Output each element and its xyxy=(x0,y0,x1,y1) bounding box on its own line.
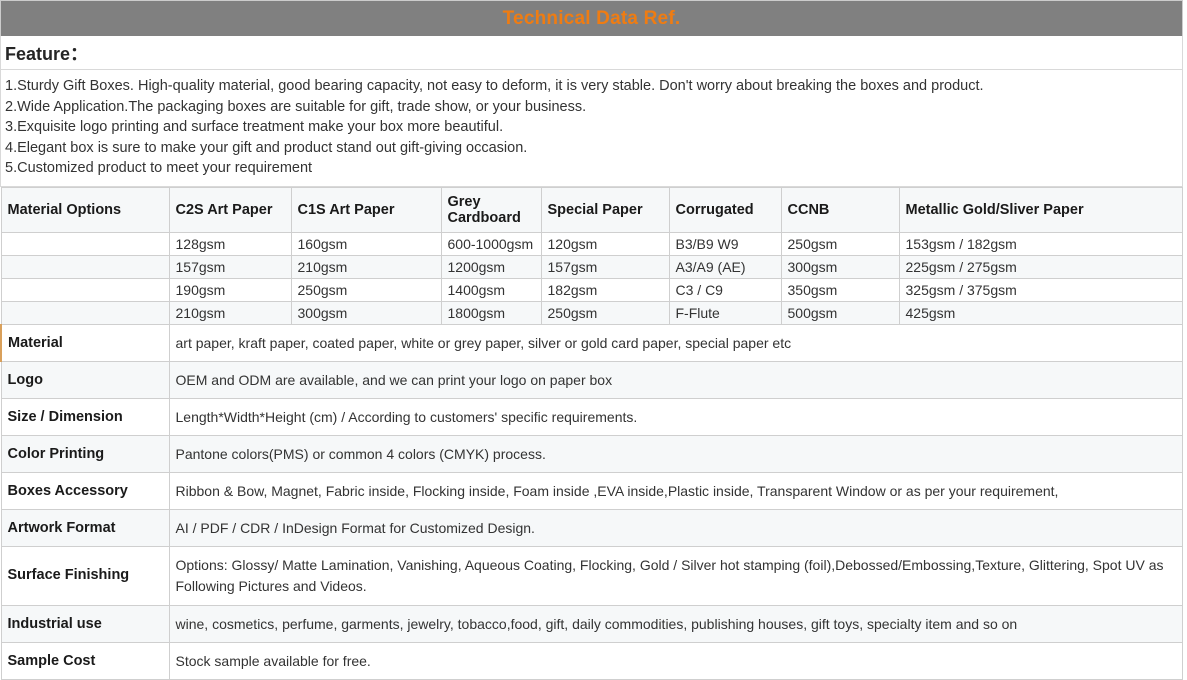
feature-line: 5.Customized product to meet your requir… xyxy=(5,158,1178,179)
cell xyxy=(1,278,169,301)
cell: 182gsm xyxy=(541,278,669,301)
cell: 160gsm xyxy=(291,232,441,255)
cell: 210gsm xyxy=(291,255,441,278)
cell: 157gsm xyxy=(541,255,669,278)
detail-value: Stock sample available for free. xyxy=(169,642,1183,679)
cell: 600-1000gsm xyxy=(441,232,541,255)
cell: 153gsm / 182gsm xyxy=(899,232,1183,255)
detail-row-industrial-use: Industrial use wine, cosmetics, perfume,… xyxy=(1,605,1183,642)
cell: 157gsm xyxy=(169,255,291,278)
cell: 1200gsm xyxy=(441,255,541,278)
feature-heading: Feature： xyxy=(5,40,88,66)
detail-label: Material xyxy=(1,324,169,361)
column-header: C2S Art Paper xyxy=(169,187,291,232)
cell: 250gsm xyxy=(541,301,669,324)
detail-value: Ribbon & Bow, Magnet, Fabric inside, Flo… xyxy=(169,472,1183,509)
cell: 300gsm xyxy=(291,301,441,324)
table-header-row: Material Options C2S Art Paper C1S Art P… xyxy=(1,187,1183,232)
detail-label: Color Printing xyxy=(1,435,169,472)
feature-line: 3.Exquisite logo printing and surface tr… xyxy=(5,117,1178,138)
column-header: Grey Cardboard xyxy=(441,187,541,232)
specification-table: Material Options C2S Art Paper C1S Art P… xyxy=(0,187,1183,680)
cell: 1800gsm xyxy=(441,301,541,324)
detail-label: Artwork Format xyxy=(1,509,169,546)
cell: 325gsm / 375gsm xyxy=(899,278,1183,301)
feature-line: 1.Sturdy Gift Boxes. High-quality materi… xyxy=(5,76,1178,97)
cell: 120gsm xyxy=(541,232,669,255)
detail-row-material: Material art paper, kraft paper, coated … xyxy=(1,324,1183,361)
spec-table-wrapper: Material Options C2S Art Paper C1S Art P… xyxy=(0,187,1183,680)
cell: 425gsm xyxy=(899,301,1183,324)
column-header: Special Paper xyxy=(541,187,669,232)
column-header: Metallic Gold/Sliver Paper xyxy=(899,187,1183,232)
table-row: 210gsm 300gsm 1800gsm 250gsm F-Flute 500… xyxy=(1,301,1183,324)
detail-value: OEM and ODM are available, and we can pr… xyxy=(169,361,1183,398)
table-row: 128gsm 160gsm 600-1000gsm 120gsm B3/B9 W… xyxy=(1,232,1183,255)
detail-label: Size / Dimension xyxy=(1,398,169,435)
detail-value: art paper, kraft paper, coated paper, wh… xyxy=(169,324,1183,361)
cell: 225gsm / 275gsm xyxy=(899,255,1183,278)
cell: 250gsm xyxy=(291,278,441,301)
table-row: 190gsm 250gsm 1400gsm 182gsm C3 / C9 350… xyxy=(1,278,1183,301)
feature-line: 4.Elegant box is sure to make your gift … xyxy=(5,138,1178,159)
detail-row-size-dimension: Size / Dimension Length*Width*Height (cm… xyxy=(1,398,1183,435)
detail-value: Pantone colors(PMS) or common 4 colors (… xyxy=(169,435,1183,472)
column-header: Corrugated xyxy=(669,187,781,232)
page-title: Technical Data Ref. xyxy=(503,9,681,28)
column-header: CCNB xyxy=(781,187,899,232)
cell: C3 / C9 xyxy=(669,278,781,301)
detail-label: Surface Finishing xyxy=(1,546,169,605)
feature-line: 2.Wide Application.The packaging boxes a… xyxy=(5,97,1178,118)
cell: 350gsm xyxy=(781,278,899,301)
cell: A3/A9 (AE) xyxy=(669,255,781,278)
cell xyxy=(1,232,169,255)
cell: 190gsm xyxy=(169,278,291,301)
detail-row-logo: Logo OEM and ODM are available, and we c… xyxy=(1,361,1183,398)
detail-row-surface-finishing: Surface Finishing Options: Glossy/ Matte… xyxy=(1,546,1183,605)
cell: F-Flute xyxy=(669,301,781,324)
detail-row-sample-cost: Sample Cost Stock sample available for f… xyxy=(1,642,1183,679)
detail-label: Logo xyxy=(1,361,169,398)
detail-value: wine, cosmetics, perfume, garments, jewe… xyxy=(169,605,1183,642)
page-title-bar: Technical Data Ref. xyxy=(0,0,1183,36)
cell xyxy=(1,301,169,324)
detail-label: Boxes Accessory xyxy=(1,472,169,509)
column-header: Material Options xyxy=(1,187,169,232)
detail-value: AI / PDF / CDR / InDesign Format for Cus… xyxy=(169,509,1183,546)
cell: 210gsm xyxy=(169,301,291,324)
detail-row-boxes-accessory: Boxes Accessory Ribbon & Bow, Magnet, Fa… xyxy=(1,472,1183,509)
detail-row-artwork-format: Artwork Format AI / PDF / CDR / InDesign… xyxy=(1,509,1183,546)
cell xyxy=(1,255,169,278)
cell: 1400gsm xyxy=(441,278,541,301)
detail-value: Options: Glossy/ Matte Lamination, Vanis… xyxy=(169,546,1183,605)
cell: 250gsm xyxy=(781,232,899,255)
detail-label: Sample Cost xyxy=(1,642,169,679)
cell: 128gsm xyxy=(169,232,291,255)
table-row: 157gsm 210gsm 1200gsm 157gsm A3/A9 (AE) … xyxy=(1,255,1183,278)
cell: 500gsm xyxy=(781,301,899,324)
detail-value: Length*Width*Height (cm) / According to … xyxy=(169,398,1183,435)
detail-row-color-printing: Color Printing Pantone colors(PMS) or co… xyxy=(1,435,1183,472)
cell: 300gsm xyxy=(781,255,899,278)
column-header: C1S Art Paper xyxy=(291,187,441,232)
feature-list: 1.Sturdy Gift Boxes. High-quality materi… xyxy=(0,70,1183,187)
feature-heading-bar: Feature： xyxy=(0,36,1183,70)
detail-label: Industrial use xyxy=(1,605,169,642)
technical-data-sheet: Technical Data Ref. Feature： 1.Sturdy Gi… xyxy=(0,0,1187,620)
cell: B3/B9 W9 xyxy=(669,232,781,255)
